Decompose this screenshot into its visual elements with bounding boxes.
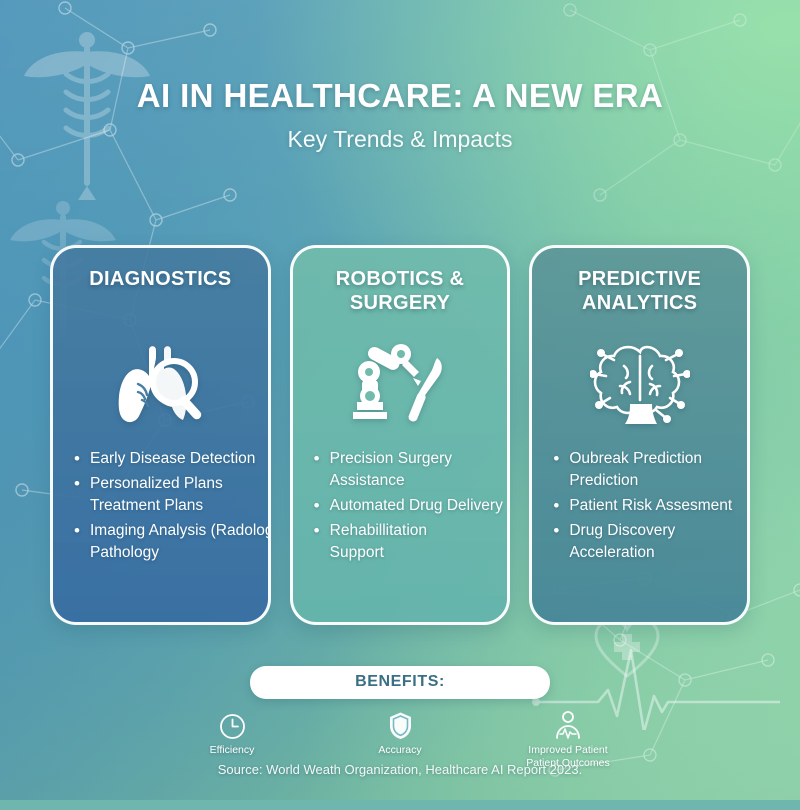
- benefit-items: Efficiency Accuracy Improved PatientPati…: [0, 710, 800, 769]
- card-title: PREDICTIVEANALYTICS: [578, 268, 701, 320]
- benefit-label: Accuracy: [378, 744, 421, 757]
- lungs-magnifier-icon: [112, 334, 208, 430]
- card-bullet-list: Precision Surgery Assistance Automated D…: [307, 448, 494, 567]
- cards-row: DIAGNOSTICS Early Disease Detection Pers…: [50, 245, 750, 625]
- card-robotics-surgery[interactable]: ROBOTICS &SURGERY: [290, 245, 511, 625]
- card-bullet-list: Oubreak Prediction Prediction Patient Ri…: [546, 448, 733, 567]
- bullet-text: Early Disease Detection: [90, 450, 255, 467]
- page-title: AI IN HEALTHCARE: A NEW ERA: [0, 78, 800, 114]
- source-citation: Source: World Weath Organization, Health…: [0, 762, 800, 777]
- bullet-text: Automated Drug Delivery: [330, 497, 503, 514]
- list-item: Patient Risk Assesment: [550, 495, 733, 517]
- robot-arm-scalpel-icon: [351, 334, 449, 430]
- card-diagnostics[interactable]: DIAGNOSTICS Early Disease Detection Pers…: [50, 245, 271, 625]
- list-item: Oubreak Prediction Prediction: [550, 448, 733, 492]
- page-subtitle: Key Trends & Impacts: [0, 126, 800, 153]
- card-title: DIAGNOSTICS: [89, 268, 231, 320]
- benefit-accuracy: Accuracy: [345, 710, 455, 769]
- list-item: Rehabillitation Support: [311, 520, 494, 564]
- benefits-label: BENEFITS:: [355, 673, 445, 690]
- bullet-text-continued: Patient Risk Assesment: [569, 495, 733, 517]
- bullet-text: Precision Surgery: [330, 450, 452, 467]
- bullet-text-continued: Pathology: [90, 542, 254, 564]
- card-title: ROBOTICS &SURGERY: [336, 268, 465, 320]
- clock-icon: [219, 710, 246, 740]
- card-predictive-analytics[interactable]: PREDICTIVEANALYTICS Oubreak Pred: [529, 245, 750, 625]
- list-item: Personalized Plans Treatment Plans: [71, 473, 254, 517]
- bullet-text-continued: Treatment Plans: [90, 495, 254, 517]
- list-item: Drug Discovery Acceleration: [550, 520, 733, 564]
- bullet-text-continued: Support: [330, 542, 494, 564]
- benefit-label: Efficiency: [210, 744, 255, 757]
- list-item: Automated Drug Delivery: [311, 495, 494, 517]
- card-bullet-list: Early Disease Detection Personalized Pla…: [67, 448, 254, 567]
- brain-network-icon: [590, 334, 690, 430]
- bullet-text: Drug Discovery: [569, 522, 675, 539]
- bullet-text: Oubreak Prediction: [569, 450, 702, 467]
- patient-vitals-icon: [553, 710, 583, 740]
- list-item: Early Disease Detection: [71, 448, 254, 470]
- benefits-pill: BENEFITS:: [250, 666, 550, 699]
- shield-icon: [388, 710, 413, 740]
- bullet-text-continued: Prediction: [569, 470, 733, 492]
- list-item: Imaging Analysis (Radology, Pathology: [71, 520, 254, 564]
- bullet-text: Rehabillitation: [330, 522, 427, 539]
- list-item: Precision Surgery Assistance: [311, 448, 494, 492]
- bullet-text-continued: Assistance: [330, 470, 494, 492]
- benefits-section: BENEFITS: Efficiency Accuracy: [0, 666, 800, 769]
- header: AI IN HEALTHCARE: A NEW ERA Key Trends &…: [0, 78, 800, 153]
- benefit-efficiency: Efficiency: [177, 710, 287, 769]
- bullet-text: Imaging Analysis (Radology,: [90, 522, 271, 539]
- bullet-text: Personalized Plans: [90, 475, 223, 492]
- bullet-text-continued: Acceleration: [569, 542, 733, 564]
- benefit-patient-outcomes: Improved PatientPatient Outcomes: [513, 710, 623, 769]
